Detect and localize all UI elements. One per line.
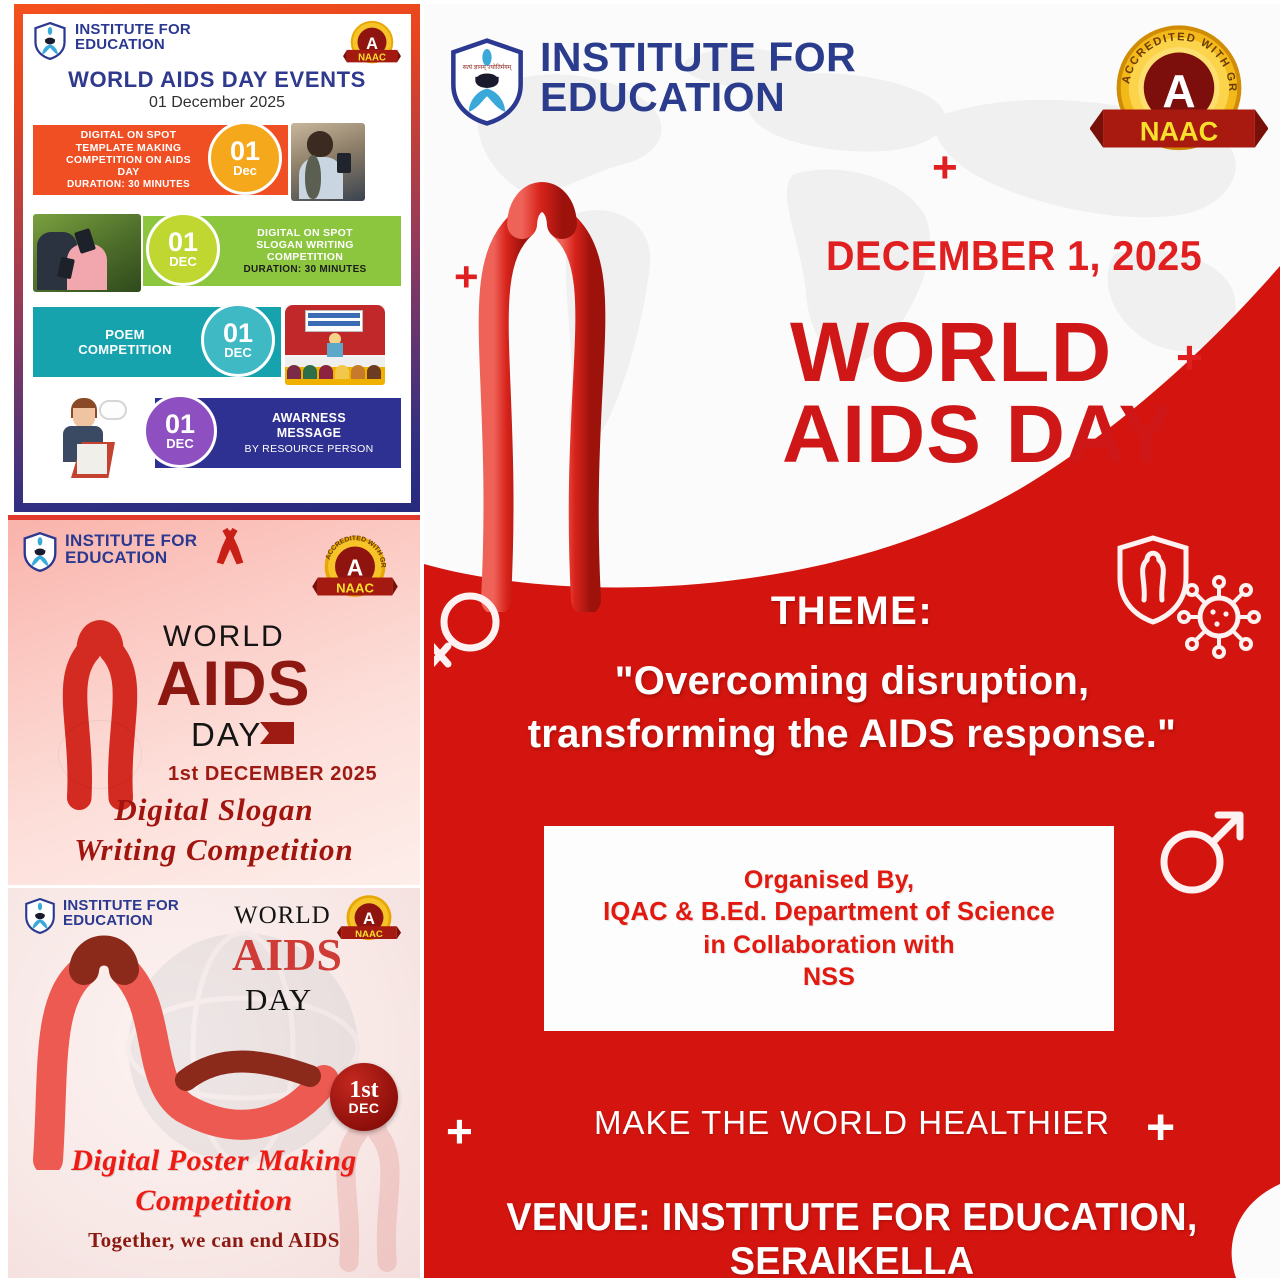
organisers-box: Organised By, IQAC & B.Ed. Department of… bbox=[544, 826, 1114, 1031]
institute-shield-logo-icon bbox=[22, 532, 58, 572]
theme-line1: "Overcoming disruption, bbox=[424, 659, 1280, 704]
poster-making-header: INSTITUTE FOR EDUCATION bbox=[24, 898, 179, 934]
slogan-aids-text: AIDS bbox=[156, 648, 311, 720]
badge-month: DEC bbox=[348, 1102, 379, 1115]
svg-text:A: A bbox=[1162, 65, 1195, 117]
brand-line2: EDUCATION bbox=[75, 37, 191, 52]
event-title-line: COMPETITION bbox=[217, 251, 393, 263]
event-title-line: COMPETITION ON AIDS bbox=[43, 154, 214, 166]
main-headline-world: WORLD bbox=[790, 304, 1112, 401]
event-thumbnail bbox=[291, 123, 365, 201]
main-world-aids-day-panel: सत्यं ज्ञानम् ज्योतिर्मयम् INSTITUTE FOR… bbox=[424, 4, 1280, 1278]
brand-line2: EDUCATION bbox=[63, 913, 179, 928]
svg-text:NAAC: NAAC bbox=[1140, 116, 1218, 147]
event-duration: DURATION: 30 MINUTES bbox=[217, 264, 393, 276]
brand-line1: INSTITUTE FOR bbox=[75, 22, 191, 37]
event-title-line: AWARNESS bbox=[225, 411, 393, 426]
red-awareness-ribbon-icon bbox=[34, 612, 166, 812]
institute-shield-logo-icon bbox=[24, 898, 56, 934]
theme-line2: transforming the AIDS response." bbox=[424, 712, 1280, 757]
digital-poster-making-panel: INSTITUTE FOR EDUCATION A NAAC WORLD bbox=[8, 888, 420, 1278]
healthier-tagline: MAKE THE WORLD HEALTHIER bbox=[424, 1104, 1280, 1142]
event-row: AWARNESS MESSAGE BY RESOURCE PERSON 01 D… bbox=[33, 394, 401, 476]
main-poster-date: DECEMBER 1, 2025 bbox=[826, 232, 1202, 280]
brand-text: INSTITUTE FOR EDUCATION bbox=[63, 898, 179, 929]
slogan-title-line1: Digital Slogan bbox=[8, 792, 420, 828]
brand-text: INSTITUTE FOR EDUCATION bbox=[75, 22, 191, 53]
event-title-line: COMPETITION bbox=[41, 342, 209, 357]
event-title-line: MESSAGE bbox=[225, 426, 393, 441]
brand-line1: INSTITUTE FOR bbox=[540, 38, 856, 78]
event-duration: DURATION: 30 MINUTES bbox=[43, 179, 214, 191]
event-day: 01 bbox=[230, 139, 260, 165]
main-headline-aids-day: AIDS DAY bbox=[782, 388, 1174, 482]
institute-shield-logo-icon bbox=[33, 22, 67, 60]
brand-text: INSTITUTE FOR EDUCATION bbox=[65, 532, 197, 566]
event-thumbnail bbox=[33, 214, 141, 292]
red-awareness-ribbon-icon bbox=[446, 182, 676, 612]
event-month: Dec bbox=[233, 165, 257, 177]
red-flag-icon bbox=[260, 722, 294, 744]
event-month: DEC bbox=[166, 438, 193, 450]
poster-tagline: Together, we can end AIDS bbox=[8, 1228, 420, 1253]
slogan-poster-header: INSTITUTE FOR EDUCATION bbox=[22, 532, 197, 572]
events-poster-panel: INSTITUTE FOR EDUCATION A NAAC bbox=[14, 4, 420, 512]
event-month: DEC bbox=[224, 347, 251, 359]
svg-text:NAAC: NAAC bbox=[358, 52, 386, 63]
digital-slogan-poster-panel: INSTITUTE FOR EDUCATION A ACCREDITED WIT… bbox=[8, 515, 420, 885]
plus-icon: + bbox=[932, 146, 958, 190]
event-title-line: TEMPLATE MAKING bbox=[43, 142, 214, 154]
organised-by-label: Organised By, bbox=[744, 866, 914, 894]
event-thumbnail bbox=[41, 396, 137, 478]
event-thumbnail bbox=[285, 305, 385, 385]
poster-title-line2: Competition bbox=[8, 1184, 420, 1218]
brand-line2: EDUCATION bbox=[540, 78, 856, 118]
svg-text:NAAC: NAAC bbox=[336, 581, 374, 596]
event-duration: BY RESOURCE PERSON bbox=[225, 443, 393, 455]
venue-text: VENUE: INSTITUTE FOR EDUCATION, SERAIKEL… bbox=[437, 1196, 1267, 1278]
brand-line2: EDUCATION bbox=[65, 549, 197, 566]
main-poster-header: सत्यं ज्ञानम् ज्योतिर्मयम् INSTITUTE FOR… bbox=[448, 38, 856, 126]
event-row: DIGITAL ON SPOT SLOGAN WRITING COMPETITI… bbox=[33, 212, 401, 294]
event-title-line: DAY bbox=[43, 166, 214, 178]
event-day: 01 bbox=[165, 412, 195, 438]
slogan-date-text: 1st DECEMBER 2025 bbox=[168, 763, 377, 786]
brand-line1: INSTITUTE FOR bbox=[63, 898, 179, 913]
poster-aids-text: AIDS bbox=[232, 928, 342, 981]
event-title-line: SLOGAN WRITING bbox=[217, 239, 393, 251]
svg-text:सत्यं ज्ञानम् ज्योतिर्मयम्: सत्यं ज्ञानम् ज्योतिर्मयम् bbox=[463, 63, 513, 71]
event-title-line: DIGITAL ON SPOT bbox=[217, 227, 393, 239]
male-gender-icon bbox=[1156, 804, 1252, 900]
event-title-line: POEM bbox=[41, 327, 209, 342]
event-date-circle: 01 DEC bbox=[201, 303, 275, 377]
svg-text:A: A bbox=[347, 554, 363, 580]
red-awareness-ribbon-icon bbox=[213, 526, 247, 566]
event-day: 01 bbox=[168, 230, 198, 256]
date-badge: 1st DEC bbox=[330, 1063, 398, 1131]
poster-world-text: WORLD bbox=[234, 902, 331, 930]
naac-badge-icon: A ACCREDITED WITH GRADE NAAC bbox=[300, 532, 410, 612]
collaboration-label: in Collaboration with bbox=[703, 931, 954, 959]
badge-day: 1st bbox=[349, 1079, 378, 1102]
svg-text:A: A bbox=[363, 909, 375, 928]
collaborator-name: NSS bbox=[803, 963, 855, 991]
brand-text: INSTITUTE FOR EDUCATION bbox=[540, 38, 856, 118]
plus-icon: + bbox=[1176, 334, 1203, 380]
events-poster-inner: INSTITUTE FOR EDUCATION A NAAC bbox=[23, 14, 411, 503]
events-poster-header: INSTITUTE FOR EDUCATION A NAAC bbox=[33, 22, 401, 60]
theme-label: THEME: bbox=[424, 589, 1280, 634]
event-month: DEC bbox=[169, 256, 196, 268]
poster-title-line1: Digital Poster Making bbox=[8, 1144, 420, 1178]
slogan-title-line2: Writing Competition bbox=[8, 832, 420, 868]
event-date-circle: 01 DEC bbox=[143, 394, 217, 468]
event-row: POEM COMPETITION 01 DEC bbox=[33, 303, 401, 385]
events-poster-date: 01 December 2025 bbox=[33, 94, 401, 112]
event-title-line: DIGITAL ON SPOT bbox=[43, 129, 214, 141]
naac-badge-icon: A ACCREDITED WITH GRADE NAAC bbox=[1090, 20, 1268, 180]
poster-collage: INSTITUTE FOR EDUCATION A NAAC bbox=[0, 0, 1280, 1280]
slogan-day-text: DAY bbox=[191, 716, 262, 754]
event-row: DIGITAL ON SPOT TEMPLATE MAKING COMPETIT… bbox=[33, 121, 401, 203]
naac-badge-icon: A NAAC bbox=[343, 18, 401, 74]
poster-day-text: DAY bbox=[245, 982, 312, 1018]
event-date-circle: 01 DEC bbox=[146, 212, 220, 286]
organiser-department: IQAC & B.Ed. Department of Science bbox=[603, 898, 1055, 927]
institute-shield-logo-icon: सत्यं ज्ञानम् ज्योतिर्मयम् bbox=[448, 38, 526, 126]
event-day: 01 bbox=[223, 321, 253, 347]
event-date-circle: 01 Dec bbox=[208, 121, 282, 195]
brand-line1: INSTITUTE FOR bbox=[65, 532, 197, 549]
plus-icon: + bbox=[454, 256, 479, 298]
